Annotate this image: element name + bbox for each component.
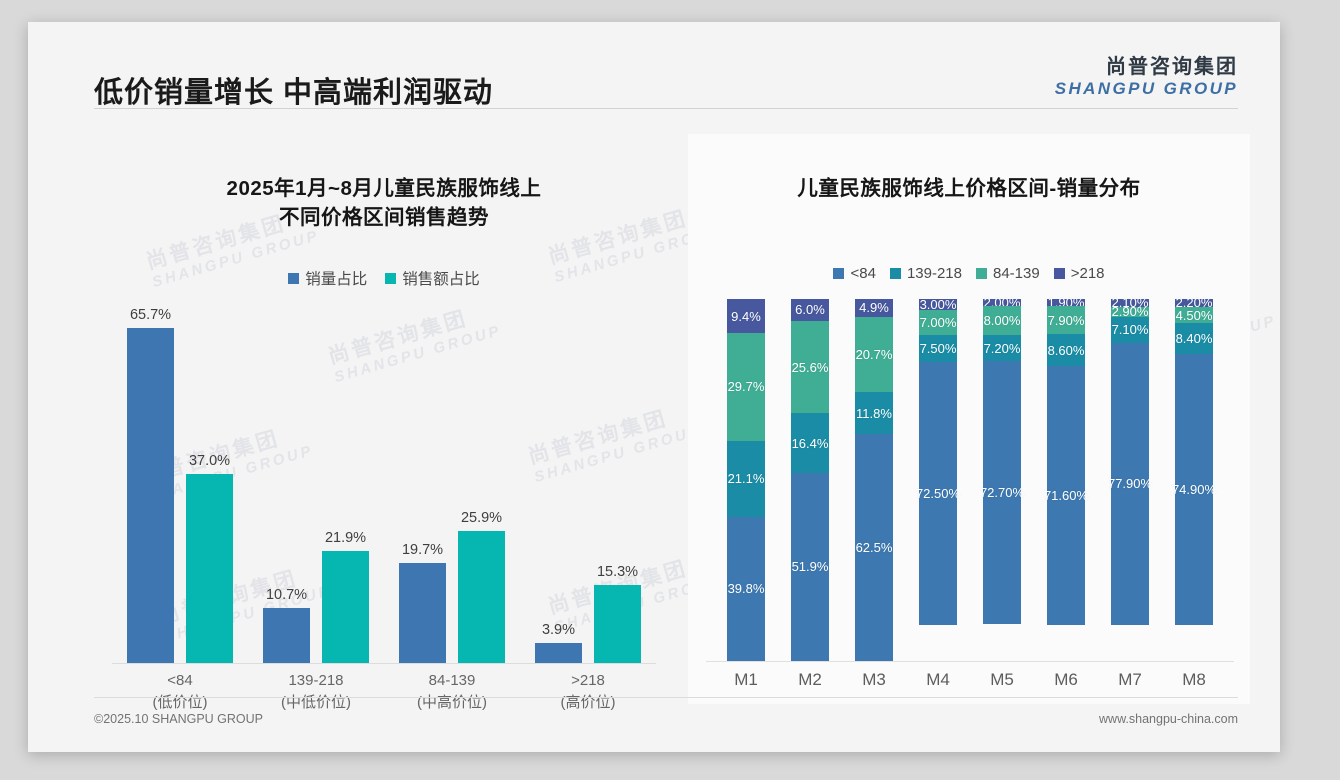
left-chart-title: 2025年1月~8月儿童民族服饰线上 不同价格区间销售趋势 [94, 174, 674, 232]
stack-segment-label: 20.7% [856, 347, 893, 362]
stack-segment-label: 7.10% [1112, 322, 1149, 337]
category-name: >218 [520, 670, 656, 692]
bar-rect [399, 563, 446, 663]
stack-segment-label: 7.20% [984, 341, 1021, 356]
bar-rect [127, 328, 174, 663]
stack-segment: 77.90% [1111, 343, 1149, 625]
stack-segment-label: 77.90% [1108, 476, 1152, 491]
right-chart-category-label: M5 [972, 670, 1032, 690]
stack-segment: 7.10% [1111, 317, 1149, 343]
left-chart-bar[interactable]: 19.7% [399, 306, 446, 663]
stack-segment-label: 72.70% [980, 485, 1024, 500]
stack-segment: 72.70% [983, 361, 1021, 624]
bar-rect [322, 551, 369, 663]
left-chart-legend-item-1[interactable]: 销售额占比 [385, 267, 480, 289]
stack-segment-label: 39.8% [728, 581, 765, 596]
stack-segment: 39.8% [727, 517, 765, 661]
right-chart-plot-area: 9.4%29.7%21.1%39.8%6.0%25.6%16.4%51.9%4.… [714, 299, 1226, 661]
right-chart-category-label: M6 [1036, 670, 1096, 690]
legend-swatch-icon [1054, 268, 1065, 279]
stack-segment-label: 6.0% [795, 302, 825, 317]
stack-segment: 8.00% [983, 306, 1021, 335]
right-chart-category-label: M7 [1100, 670, 1160, 690]
left-chart-panel: 2025年1月~8月儿童民族服饰线上 不同价格区间销售趋势 销量占比销售额占比 … [94, 134, 674, 704]
bar-rect [263, 608, 310, 663]
category-sublabel: (中低价位) [248, 692, 384, 714]
stack-segment-label: 7.00% [920, 315, 957, 330]
left-chart-bar-group: 3.9%15.3% [520, 306, 656, 663]
right-chart-category-label: M4 [908, 670, 968, 690]
stack-segment: 29.7% [727, 333, 765, 441]
left-chart-legend: 销量占比销售额占比 [94, 267, 674, 289]
stack-segment: 21.1% [727, 441, 765, 517]
right-chart-stacked-bar[interactable]: 6.0%25.6%16.4%51.9% [791, 299, 829, 661]
category-sublabel: (中高价位) [384, 692, 520, 714]
stack-segment: 7.90% [1047, 306, 1085, 335]
left-chart-bar[interactable]: 15.3% [594, 306, 641, 663]
left-chart-bar[interactable]: 37.0% [186, 306, 233, 663]
stack-segment-label: 16.4% [792, 436, 829, 451]
stack-segment-label: 7.50% [920, 341, 957, 356]
legend-label: 销售额占比 [402, 267, 480, 289]
right-chart-category-label: M3 [844, 670, 904, 690]
page-title: 低价销量增长 中高端利润驱动 [94, 69, 493, 111]
right-chart-stacked-bar[interactable]: 2.20%4.50%8.40%74.90% [1175, 299, 1213, 661]
stack-segment: 74.90% [1175, 354, 1213, 625]
right-chart-category-label: M2 [780, 670, 840, 690]
stack-segment-label: 4.9% [859, 300, 889, 315]
stack-segment-label: 21.1% [728, 471, 765, 486]
stack-segment: 4.9% [855, 299, 893, 317]
bar-value-label: 37.0% [189, 453, 230, 469]
right-chart-category-label: M8 [1164, 670, 1224, 690]
stack-segment: 1.90% [1047, 299, 1085, 306]
stack-segment-label: 8.40% [1176, 331, 1213, 346]
legend-label: 84-139 [993, 265, 1040, 282]
left-chart-bar[interactable]: 10.7% [263, 306, 310, 663]
left-chart-bar-group: 65.7%37.0% [112, 306, 248, 663]
stack-segment: 2.00% [983, 299, 1021, 306]
stack-segment-label: 74.90% [1172, 482, 1216, 497]
left-chart-category-label: 139-218(中低价位) [248, 670, 384, 714]
bar-rect [594, 585, 641, 663]
legend-label: 139-218 [907, 265, 962, 282]
stack-segment: 6.0% [791, 299, 829, 321]
footer-website: www.shangpu-china.com [1099, 712, 1238, 726]
stack-segment-label: 11.8% [856, 406, 892, 421]
stack-segment-label: 4.50% [1176, 308, 1213, 323]
right-chart-legend-item-3[interactable]: >218 [1054, 265, 1105, 282]
footer-divider [94, 697, 1238, 698]
bar-value-label: 19.7% [402, 542, 443, 558]
legend-swatch-icon [833, 268, 844, 279]
legend-swatch-icon [976, 268, 987, 279]
right-chart-panel: 儿童民族服饰线上价格区间-销量分布 <84139-21884-139>218 9… [688, 134, 1250, 704]
legend-label: 销量占比 [305, 267, 367, 289]
left-chart-legend-item-0[interactable]: 销量占比 [288, 267, 367, 289]
stack-segment-label: 62.5% [856, 540, 893, 555]
bar-value-label: 3.9% [542, 622, 575, 638]
right-chart-legend-item-0[interactable]: <84 [833, 265, 875, 282]
slide-canvas: 低价销量增长 中高端利润驱动 尚普咨询集团 SHANGPU GROUP 尚普咨询… [28, 22, 1280, 752]
right-chart-stacked-bar[interactable]: 1.90%7.90%8.60%71.60% [1047, 299, 1085, 661]
stack-segment-label: 72.50% [916, 486, 960, 501]
left-chart-bar[interactable]: 3.9% [535, 306, 582, 663]
stack-segment: 51.9% [791, 473, 829, 661]
right-chart-stacked-bar[interactable]: 2.00%8.00%7.20%72.70% [983, 299, 1021, 661]
right-chart-x-axis-labels: M1M2M3M4M5M6M7M8 [714, 670, 1226, 700]
bar-value-label: 25.9% [461, 510, 502, 526]
stack-segment: 4.50% [1175, 307, 1213, 323]
stack-segment: 72.50% [919, 362, 957, 624]
right-chart-legend: <84139-21884-139>218 [688, 265, 1250, 282]
stack-segment: 7.00% [919, 310, 957, 335]
stack-segment: 8.40% [1175, 323, 1213, 353]
left-chart-bar-group: 10.7%21.9% [248, 306, 384, 663]
legend-swatch-icon [890, 268, 901, 279]
logo-chinese-text: 尚普咨询集团 [1055, 57, 1238, 78]
right-chart-stacked-bar[interactable]: 2.10%2.90%7.10%77.90% [1111, 299, 1149, 661]
right-chart-x-axis-line [706, 661, 1234, 662]
stack-segment-label: 25.6% [792, 360, 829, 375]
bar-rect [186, 474, 233, 663]
bar-value-label: 15.3% [597, 564, 638, 580]
footer-copyright: ©2025.10 SHANGPU GROUP [94, 712, 263, 726]
bar-value-label: 10.7% [266, 587, 307, 603]
bar-rect [458, 531, 505, 663]
right-chart-category-label: M1 [716, 670, 776, 690]
stack-segment: 71.60% [1047, 366, 1085, 625]
left-chart-category-label: >218(高价位) [520, 670, 656, 714]
left-chart-bar[interactable]: 65.7% [127, 306, 174, 663]
left-chart-bar-group: 19.7%25.9% [384, 306, 520, 663]
stack-segment-label: 7.90% [1048, 313, 1085, 328]
category-sublabel: (高价位) [520, 692, 656, 714]
logo-english-text: SHANGPU GROUP [1055, 80, 1238, 98]
stack-segment-label: 8.00% [984, 313, 1021, 328]
bar-value-label: 21.9% [325, 530, 366, 546]
left-chart-title-line2: 不同价格区间销售趋势 [94, 203, 674, 232]
stack-segment: 8.60% [1047, 334, 1085, 365]
header-divider [94, 108, 1238, 109]
stack-segment: 2.90% [1111, 307, 1149, 317]
bar-value-label: 65.7% [130, 307, 171, 323]
stack-segment: 16.4% [791, 413, 829, 472]
stack-segment-label: 51.9% [792, 559, 829, 574]
legend-label: >218 [1071, 265, 1105, 282]
right-chart-title: 儿童民族服饰线上价格区间-销量分布 [688, 174, 1250, 203]
stack-segment: 20.7% [855, 317, 893, 392]
right-chart-stacked-bar[interactable]: 4.9%20.7%11.8%62.5% [855, 299, 893, 661]
right-chart-stacked-bar[interactable]: 3.00%7.00%7.50%72.50% [919, 299, 957, 661]
right-chart-legend-item-2[interactable]: 84-139 [976, 265, 1040, 282]
left-chart-title-line1: 2025年1月~8月儿童民族服饰线上 [94, 174, 674, 203]
category-name: <84 [112, 670, 248, 692]
category-sublabel: (低价位) [112, 692, 248, 714]
category-name: 139-218 [248, 670, 384, 692]
right-chart-stacked-bar[interactable]: 9.4%29.7%21.1%39.8% [727, 299, 765, 661]
stack-segment-label: 29.7% [728, 379, 765, 394]
left-chart-bar[interactable]: 25.9% [458, 306, 505, 663]
stack-segment: 7.20% [983, 335, 1021, 361]
stack-segment: 2.20% [1175, 299, 1213, 307]
legend-label: <84 [850, 265, 875, 282]
legend-swatch-icon [288, 273, 299, 284]
stack-segment: 7.50% [919, 335, 957, 362]
stack-segment: 9.4% [727, 299, 765, 333]
slide-header: 低价销量增长 中高端利润驱动 尚普咨询集团 SHANGPU GROUP [28, 22, 1280, 118]
stack-segment-label: 9.4% [731, 309, 761, 324]
stack-segment: 25.6% [791, 321, 829, 414]
brand-logo: 尚普咨询集团 SHANGPU GROUP [1055, 57, 1238, 98]
stack-segment-label: 8.60% [1048, 343, 1085, 358]
stack-segment: 3.00% [919, 299, 957, 310]
category-name: 84-139 [384, 670, 520, 692]
left-chart-plot-area: 65.7%37.0%10.7%21.9%19.7%25.9%3.9%15.3% [112, 306, 656, 663]
legend-swatch-icon [385, 273, 396, 284]
left-chart-category-label: 84-139(中高价位) [384, 670, 520, 714]
stack-segment: 11.8% [855, 392, 893, 435]
stack-segment: 62.5% [855, 434, 893, 660]
left-chart-category-label: <84(低价位) [112, 670, 248, 714]
bar-rect [535, 643, 582, 663]
right-chart-legend-item-1[interactable]: 139-218 [890, 265, 962, 282]
stack-segment-label: 71.60% [1044, 488, 1088, 503]
left-chart-bar[interactable]: 21.9% [322, 306, 369, 663]
left-chart-x-axis-line [112, 663, 656, 664]
